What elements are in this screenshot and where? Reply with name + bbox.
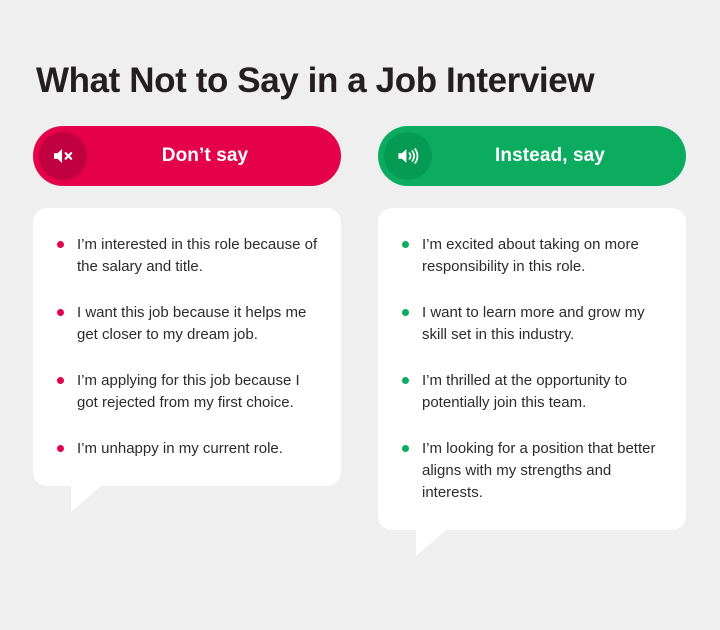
card-dont-say: I’m interested in this role because of t…	[33, 208, 341, 486]
list-item: I’m interested in this role because of t…	[55, 234, 319, 278]
list-item: I want this job because it helps me get …	[55, 302, 319, 346]
list-item: I’m unhappy in my current role.	[55, 438, 319, 460]
list-item: I’m thrilled at the opportunity to poten…	[400, 370, 664, 414]
column-dont-say: Don’t say I’m interested in this role be…	[33, 126, 341, 486]
pill-label-dont-say: Don’t say	[87, 145, 341, 167]
speaker-on-icon	[384, 132, 432, 180]
page-title: What Not to Say in a Job Interview	[36, 61, 594, 101]
column-instead-say: Instead, say I’m excited about taking on…	[378, 126, 686, 530]
bullet-list-instead-say: I’m excited about taking on more respons…	[400, 234, 664, 504]
list-item: I’m looking for a position that better a…	[400, 438, 664, 504]
header-pill-dont-say: Don’t say	[33, 126, 341, 186]
list-item: I’m excited about taking on more respons…	[400, 234, 664, 278]
card-instead-say: I’m excited about taking on more respons…	[378, 208, 686, 530]
pill-label-instead-say: Instead, say	[432, 145, 686, 167]
header-pill-instead-say: Instead, say	[378, 126, 686, 186]
list-item: I want to learn more and grow my skill s…	[400, 302, 664, 346]
list-item: I’m applying for this job because I got …	[55, 370, 319, 414]
bullet-list-dont-say: I’m interested in this role because of t…	[55, 234, 319, 460]
speaker-mute-icon	[39, 132, 87, 180]
